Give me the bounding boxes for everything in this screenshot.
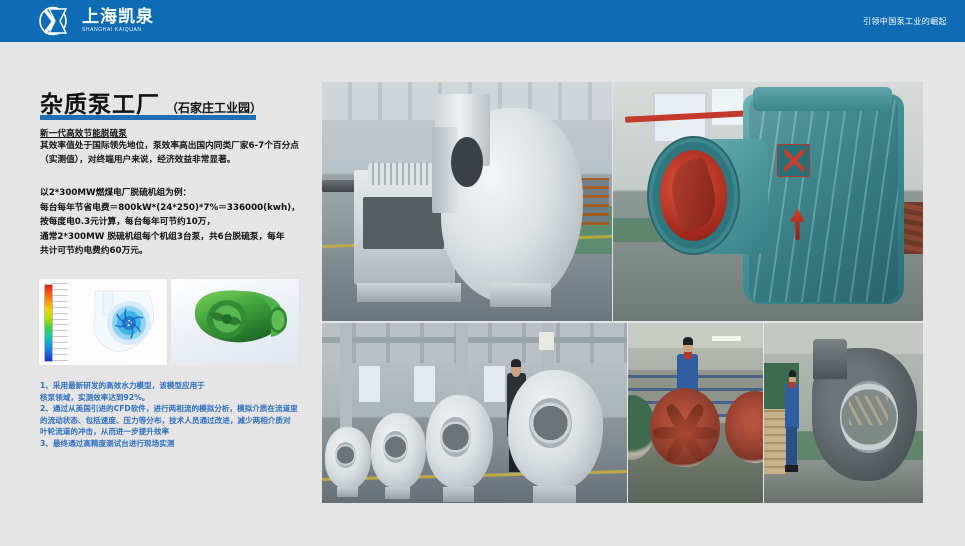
photo-red-impellers-with-worker: 红色叶轮与蓝色工装工人 — [628, 323, 763, 503]
process-notes-list: 1、采用最新研发的高效水力模型，该模型应用于 核泵领域，实测效率达到92%。 2… — [40, 380, 320, 450]
kaiquan-logo-badge-icon — [777, 144, 810, 177]
page-title-sub: （石家庄工业园） — [166, 99, 262, 116]
page-title: 杂质泵工厂 （石家庄工业园） — [40, 85, 262, 119]
section-heading: 新一代高效节能脱硫泵 — [40, 127, 305, 139]
brand-name-en: SHANGHAI KAIQUAN — [82, 28, 154, 33]
example-line: 共计可节约电费约60万元。 — [40, 244, 312, 259]
slide-canvas: 上海凯泉 SHANGHAI KAIQUAN 引领中国泵工业的崛起 杂质泵工厂 （… — [0, 0, 965, 546]
cfd-image-band — [38, 278, 300, 364]
page-header: 上海凯泉 SHANGHAI KAIQUAN 引领中国泵工业的崛起 — [0, 0, 965, 42]
kaiquan-logo-icon — [36, 6, 76, 36]
brand-logo[interactable]: 上海凯泉 SHANGHAI KAIQUAN — [36, 6, 154, 36]
section-paragraph: 其效率值处于国际领先地位，泵效率高出国内同类厂家6-7个百分点（实测值），对终端… — [40, 139, 308, 167]
cfd-legend-ticks — [52, 283, 74, 361]
volute-contour-graphic — [83, 285, 161, 361]
note-line: 3、最终通过高精度测试台进行现场实测 — [40, 438, 320, 450]
note-line: 的流动状态、包括速度、压力等分布，技术人员通过改进，减少两相介质对 — [40, 415, 320, 427]
left-content-column: 杂质泵工厂 （石家庄工业园） 新一代高效节能脱硫泵 其效率值处于国际领先地位，泵… — [0, 42, 322, 546]
example-line: 每台每年节省电费＝800kW*(24*250)*7%＝336000(kwh)， — [40, 201, 312, 216]
note-line: 1、采用最新研发的高效水力模型，该模型应用于 — [40, 380, 320, 392]
brand-name-cn: 上海凯泉 — [82, 9, 154, 26]
photo-grey-desulfurization-pump-assembly: 车间内灰色脱硫泵整机 — [322, 82, 612, 321]
note-line: 2、通过从美国引进的CFD软件，进行两相流的模拟分析，模拟介质在流道里 — [40, 403, 320, 415]
green-3d-model-graphic — [179, 283, 293, 361]
header-tagline: 引领中国泵工业的崛起 — [863, 0, 947, 42]
example-calculation-block: 以2*300MW燃煤电厂脱硫机组为例： 每台每年节省电费＝800kW*(24*2… — [40, 186, 312, 259]
note-line: 核泵领域，实测效率达到92%。 — [40, 392, 320, 404]
photo-pump-casing-row-with-worker: 成排灰色泵壳与技术人员 — [322, 323, 627, 503]
photo-teal-slurry-pump-with-red-impeller: 蓝绿色渣浆泵，红色叶轮与凯泉标识 — [613, 82, 923, 321]
impeller-volute-3d-model-image — [170, 278, 300, 366]
example-line: 以2*300MW燃煤电厂脱硫机组为例： — [40, 186, 312, 201]
page-title-main: 杂质泵工厂 — [40, 85, 160, 119]
photo-grid: 车间内灰色脱硫泵整机 蓝绿色渣浆泵，红色叶轮与凯泉标识 — [322, 82, 923, 503]
note-line: 叶轮流道的冲击，从而进一步提升效率 — [40, 426, 320, 438]
cfd-velocity-contour-image — [38, 278, 168, 366]
example-line: 通常2*300MW 脱硫机组每个机组3台泵，共6台脱硫泵，每年 — [40, 230, 312, 245]
example-line: 按每度电0.3元计算，每台每年可节约10万， — [40, 215, 312, 230]
title-underline-rule — [40, 115, 256, 120]
photo-raw-cast-volute-with-worker: 大型铸造泵壳毛坯与工人 — [764, 323, 923, 503]
